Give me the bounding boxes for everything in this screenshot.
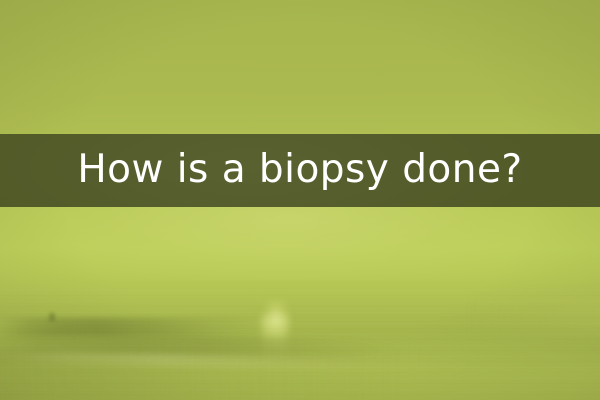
title-overlay-band: How is a biopsy done? xyxy=(0,134,600,207)
banner-image: How is a biopsy done? xyxy=(0,0,600,400)
banner-title: How is a biopsy done? xyxy=(77,150,522,192)
